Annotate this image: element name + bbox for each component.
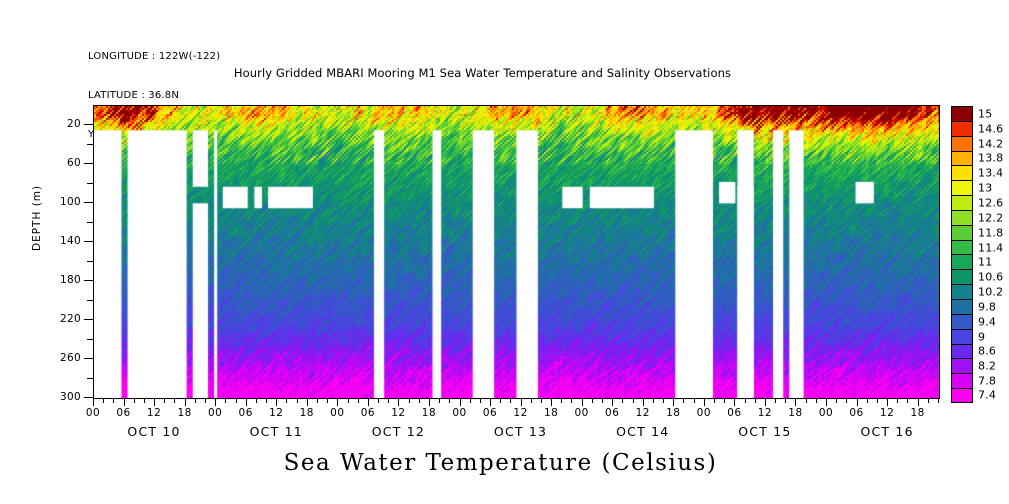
- temperature-contour-plot: [93, 105, 940, 399]
- time-tick-label: 12: [513, 407, 527, 419]
- chart-caption-text: Sea Water Temperature (Celsius): [284, 450, 718, 476]
- depth-tick-minor: [87, 222, 93, 223]
- colorbar-swatch: 11: [951, 254, 973, 269]
- depth-tick-minor: [87, 183, 93, 184]
- time-tick-major: [490, 398, 491, 406]
- time-tick-minor: [317, 398, 318, 403]
- time-tick-minor: [714, 398, 715, 403]
- colorbar-tick-label: 12.2: [978, 211, 1003, 224]
- colorbar-tick-label: 14.2: [978, 137, 1003, 150]
- time-tick-major: [368, 398, 369, 406]
- time-tick-minor: [867, 398, 868, 403]
- depth-tick-label: 20: [67, 118, 81, 130]
- time-tick-label: 18: [300, 407, 314, 419]
- depth-tick-minor: [87, 261, 93, 262]
- time-tick-minor: [877, 398, 878, 403]
- depth-tick-minor: [87, 339, 93, 340]
- time-tick-minor: [297, 398, 298, 403]
- day-label: OCT 14: [616, 424, 669, 439]
- time-tick-label: 12: [636, 407, 650, 419]
- time-tick-label: 06: [239, 407, 253, 419]
- colorbar-swatch: 11.4: [951, 240, 973, 255]
- time-tick-minor: [419, 398, 420, 403]
- depth-tick-minor: [87, 378, 93, 379]
- time-tick-minor: [816, 398, 817, 403]
- colorbar-swatch: 12.2: [951, 210, 973, 225]
- depth-tick-label: 100: [60, 196, 81, 208]
- colorbar-tick-label: 13.8: [978, 152, 1003, 165]
- time-tick-label: 06: [727, 407, 741, 419]
- time-tick-minor: [571, 398, 572, 403]
- colorbar-tick-label: 11: [978, 256, 992, 269]
- time-tick-label: 12: [758, 407, 772, 419]
- colorbar-swatch: 10.6: [951, 269, 973, 284]
- time-tick-label: 18: [544, 407, 558, 419]
- time-tick-minor: [694, 398, 695, 403]
- time-tick-label: 00: [208, 407, 222, 419]
- time-tick-minor: [806, 398, 807, 403]
- time-tick-minor: [785, 398, 786, 403]
- colorbar-swatch: 9: [951, 329, 973, 344]
- time-tick-minor: [378, 398, 379, 403]
- time-tick-major: [612, 398, 613, 406]
- time-tick-label: 18: [666, 407, 680, 419]
- time-tick-minor: [470, 398, 471, 403]
- time-tick-minor: [724, 398, 725, 403]
- time-tick-minor: [480, 398, 481, 403]
- chart-caption: Sea Water Temperature (Celsius): [0, 450, 1009, 476]
- depth-tick-major: [84, 163, 93, 164]
- time-tick-minor: [846, 398, 847, 403]
- time-tick-major: [857, 398, 858, 406]
- depth-tick-label: 220: [60, 313, 81, 325]
- time-tick-minor: [622, 398, 623, 403]
- depth-tick-minor: [87, 300, 93, 301]
- time-tick-label: 00: [86, 407, 100, 419]
- colorbar-swatch: 8.6: [951, 344, 973, 359]
- time-tick-minor: [755, 398, 756, 403]
- depth-tick-label: 60: [67, 157, 81, 169]
- time-tick-minor: [266, 398, 267, 403]
- time-tick-label: 00: [452, 407, 466, 419]
- time-tick-label: 12: [391, 407, 405, 419]
- day-label: OCT 15: [738, 424, 791, 439]
- depth-tick-major: [84, 358, 93, 359]
- time-tick-major: [582, 398, 583, 406]
- time-tick-label: 00: [574, 407, 588, 419]
- time-tick-minor: [561, 398, 562, 403]
- depth-tick-major: [84, 397, 93, 398]
- colorbar-swatch: 14.6: [951, 121, 973, 136]
- colorbar-swatch: 15: [951, 106, 973, 121]
- time-tick-major: [307, 398, 308, 406]
- colorbar-swatch: 7.8: [951, 373, 973, 388]
- time-tick-major: [337, 398, 338, 406]
- depth-tick-major: [84, 202, 93, 203]
- time-tick-major: [551, 398, 552, 406]
- colorbar-tick-label: 11.4: [978, 241, 1003, 254]
- time-tick-major: [734, 398, 735, 406]
- time-tick-minor: [500, 398, 501, 403]
- metadata-longitude: LONGITUDE : 122W(-122): [88, 50, 220, 63]
- colorbar-swatch: 14.2: [951, 136, 973, 151]
- depth-tick-major: [84, 124, 93, 125]
- chart-title-text: Hourly Gridded MBARI Mooring M1 Sea Wate…: [234, 66, 731, 80]
- depth-tick-major: [84, 280, 93, 281]
- colorbar-tick-label: 13: [978, 182, 992, 195]
- time-tick-major: [124, 398, 125, 406]
- time-tick-label: 18: [910, 407, 924, 419]
- time-tick-minor: [134, 398, 135, 403]
- time-tick-major: [460, 398, 461, 406]
- metadata-latitude: LATITUDE : 36.8N: [88, 89, 220, 102]
- time-axis: 0006121800061218000612180006121800061218…: [93, 398, 940, 444]
- time-tick-major: [215, 398, 216, 406]
- colorbar-tick-label: 13.4: [978, 167, 1003, 180]
- time-tick-minor: [449, 398, 450, 403]
- time-tick-minor: [745, 398, 746, 403]
- colorbar-tick-label: 12.6: [978, 196, 1003, 209]
- colorbar-tick-label: 15: [978, 107, 992, 120]
- time-tick-major: [521, 398, 522, 406]
- colorbar-tick-label: 9.8: [978, 300, 996, 313]
- time-tick-minor: [531, 398, 532, 403]
- time-tick-major: [795, 398, 796, 406]
- time-tick-major: [643, 398, 644, 406]
- time-tick-minor: [164, 398, 165, 403]
- time-tick-label: 18: [422, 407, 436, 419]
- time-tick-minor: [602, 398, 603, 403]
- time-tick-label: 06: [483, 407, 497, 419]
- colorbar-swatch: 13: [951, 180, 973, 195]
- depth-tick-major: [84, 241, 93, 242]
- time-tick-major: [765, 398, 766, 406]
- time-tick-major: [826, 398, 827, 406]
- time-tick-label: 18: [177, 407, 191, 419]
- time-tick-minor: [348, 398, 349, 403]
- time-tick-label: 06: [849, 407, 863, 419]
- colorbar-tick-label: 7.8: [978, 375, 996, 388]
- time-tick-label: 12: [147, 407, 161, 419]
- depth-tick-label: 260: [60, 352, 81, 364]
- time-tick-label: 06: [116, 407, 130, 419]
- time-tick-minor: [103, 398, 104, 403]
- time-tick-label: 06: [361, 407, 375, 419]
- time-tick-major: [918, 398, 919, 406]
- colorbar-swatch: 9.8: [951, 299, 973, 314]
- time-tick-major: [887, 398, 888, 406]
- time-tick-major: [185, 398, 186, 406]
- depth-tick-major: [84, 319, 93, 320]
- time-tick-minor: [256, 398, 257, 403]
- time-tick-major: [276, 398, 277, 406]
- chart-title: Hourly Gridded MBARI Mooring M1 Sea Wate…: [0, 66, 1009, 80]
- time-tick-label: 00: [697, 407, 711, 419]
- contour-canvas: [94, 106, 939, 398]
- time-tick-minor: [113, 398, 114, 403]
- time-tick-minor: [174, 398, 175, 403]
- time-tick-minor: [928, 398, 929, 403]
- time-tick-minor: [358, 398, 359, 403]
- time-tick-major: [398, 398, 399, 406]
- time-tick-minor: [195, 398, 196, 403]
- colorbar-tick-label: 8.6: [978, 345, 996, 358]
- time-tick-major: [154, 398, 155, 406]
- time-tick-minor: [633, 398, 634, 403]
- depth-tick-minor: [87, 144, 93, 145]
- time-tick-minor: [541, 398, 542, 403]
- colorbar: 1514.614.213.813.41312.612.211.811.41110…: [951, 106, 973, 403]
- day-label: OCT 16: [860, 424, 913, 439]
- colorbar-swatch: 13.8: [951, 151, 973, 166]
- colorbar-tick-label: 7.4: [978, 389, 996, 402]
- day-label: OCT 12: [372, 424, 425, 439]
- depth-tick-label: 300: [60, 391, 81, 403]
- time-tick-minor: [286, 398, 287, 403]
- colorbar-tick-label: 11.8: [978, 226, 1003, 239]
- time-tick-label: 00: [819, 407, 833, 419]
- depth-axis-label: DEPTH (m): [31, 185, 43, 251]
- time-tick-minor: [907, 398, 908, 403]
- time-tick-label: 00: [330, 407, 344, 419]
- time-tick-minor: [592, 398, 593, 403]
- colorbar-tick-label: 10.6: [978, 271, 1003, 284]
- time-tick-minor: [836, 398, 837, 403]
- colorbar-tick-label: 9: [978, 330, 985, 343]
- time-tick-minor: [775, 398, 776, 403]
- time-tick-minor: [236, 398, 237, 403]
- colorbar-tick-label: 8.2: [978, 360, 996, 373]
- time-tick-major: [673, 398, 674, 406]
- time-tick-minor: [663, 398, 664, 403]
- day-label: OCT 10: [127, 424, 180, 439]
- time-tick-major: [704, 398, 705, 406]
- time-tick-minor: [327, 398, 328, 403]
- time-tick-minor: [938, 398, 939, 403]
- colorbar-tick-label: 9.4: [978, 315, 996, 328]
- time-tick-minor: [225, 398, 226, 403]
- time-tick-major: [429, 398, 430, 406]
- time-tick-label: 12: [880, 407, 894, 419]
- depth-axis: 2060100140180220260300: [0, 105, 93, 399]
- depth-tick-label: 140: [60, 235, 81, 247]
- day-label: OCT 11: [250, 424, 303, 439]
- time-tick-minor: [409, 398, 410, 403]
- colorbar-swatch: 9.4: [951, 314, 973, 329]
- colorbar-swatch: 11.8: [951, 225, 973, 240]
- colorbar-swatch: 7.4: [951, 388, 973, 403]
- day-label: OCT 13: [494, 424, 547, 439]
- colorbar-tick-label: 10.2: [978, 286, 1003, 299]
- colorbar-swatch: 13.4: [951, 165, 973, 180]
- time-tick-minor: [439, 398, 440, 403]
- colorbar-swatch: 12.6: [951, 195, 973, 210]
- time-tick-minor: [683, 398, 684, 403]
- time-tick-minor: [653, 398, 654, 403]
- time-tick-minor: [510, 398, 511, 403]
- colorbar-swatch: 10.2: [951, 284, 973, 299]
- time-tick-label: 18: [788, 407, 802, 419]
- time-tick-minor: [205, 398, 206, 403]
- colorbar-swatch: 8.2: [951, 358, 973, 373]
- depth-tick-label: 180: [60, 274, 81, 286]
- colorbar-tick-label: 14.6: [978, 122, 1003, 135]
- time-tick-major: [93, 398, 94, 406]
- time-tick-minor: [144, 398, 145, 403]
- time-tick-label: 06: [605, 407, 619, 419]
- time-tick-minor: [897, 398, 898, 403]
- time-tick-minor: [388, 398, 389, 403]
- time-tick-major: [246, 398, 247, 406]
- time-tick-label: 12: [269, 407, 283, 419]
